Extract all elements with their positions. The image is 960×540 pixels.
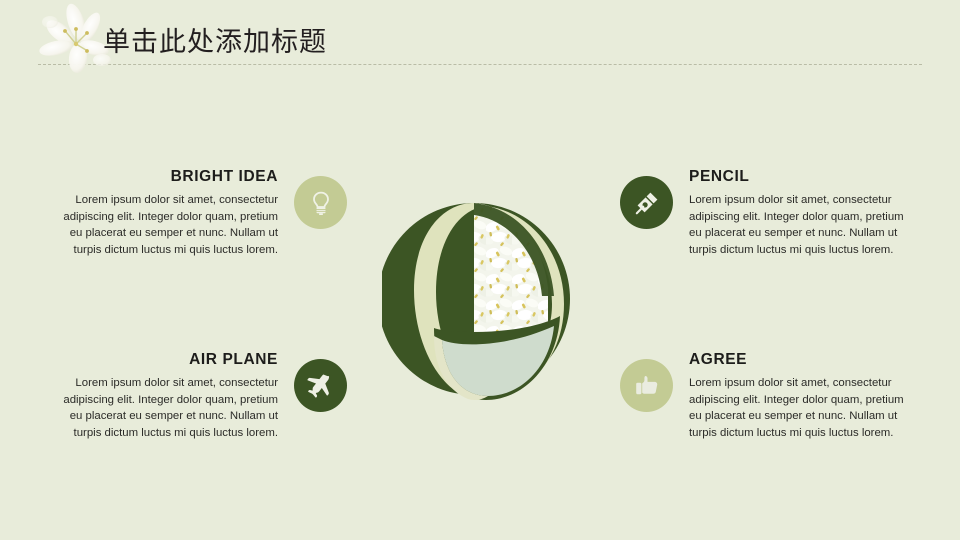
lightbulb-icon [307,189,335,217]
feature-icon-badge[interactable] [294,176,347,229]
feature-icon-badge[interactable] [620,176,673,229]
dashed-divider [38,64,922,65]
feature-text-group: BRIGHT IDEA Lorem ipsum dolor sit amet, … [52,168,278,258]
feature-icon-badge[interactable] [620,359,673,412]
slide-canvas: 单击此处添加标题 BRIGHT IDEA Lorem ipsum dolor s… [0,0,960,540]
feature-body: Lorem ipsum dolor sit amet, consectetur … [689,375,915,441]
thumbs-up-icon [633,372,661,400]
feature-text-group: AIR PLANE Lorem ipsum dolor sit amet, co… [52,351,278,441]
slide-header: 单击此处添加标题 [0,0,960,80]
feature-title: PENCIL [689,168,915,185]
feature-block-agree[interactable]: AGREE Lorem ipsum dolor sit amet, consec… [620,351,915,441]
cutaway-sphere-diagram [382,168,582,438]
feature-title: BRIGHT IDEA [52,168,278,185]
feature-body: Lorem ipsum dolor sit amet, consectetur … [52,375,278,441]
feature-icon-badge[interactable] [294,359,347,412]
feature-text-group: AGREE Lorem ipsum dolor sit amet, consec… [689,351,915,441]
pen-nib-icon [633,189,661,217]
feature-body: Lorem ipsum dolor sit amet, consectetur … [689,192,915,258]
feature-block-pencil[interactable]: PENCIL Lorem ipsum dolor sit amet, conse… [620,168,915,258]
feature-block-air-plane[interactable]: AIR PLANE Lorem ipsum dolor sit amet, co… [52,351,347,441]
feature-title: AGREE [689,351,915,368]
page-title: 单击此处添加标题 [103,20,327,59]
feature-text-group: PENCIL Lorem ipsum dolor sit amet, conse… [689,168,915,258]
airplane-icon [307,372,335,400]
feature-body: Lorem ipsum dolor sit amet, consectetur … [52,192,278,258]
feature-title: AIR PLANE [52,351,278,368]
feature-block-bright-idea[interactable]: BRIGHT IDEA Lorem ipsum dolor sit amet, … [52,168,347,258]
